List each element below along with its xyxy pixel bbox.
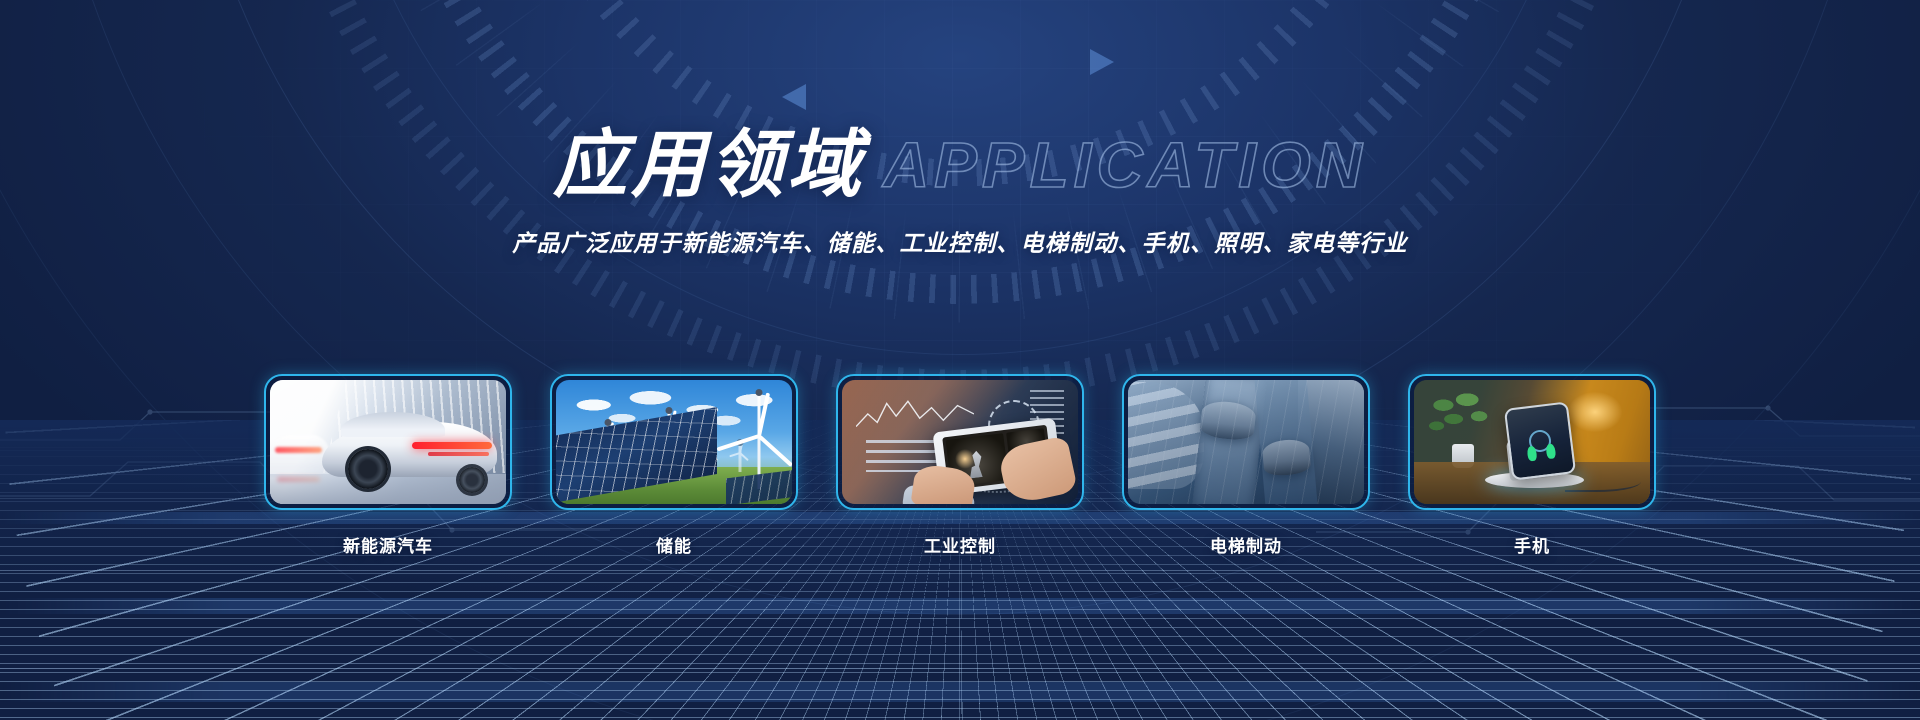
solar-wind-energy-photo	[556, 380, 792, 504]
card-frame[interactable]	[1408, 374, 1656, 510]
application-card-industrial-control[interactable]: 工业控制	[836, 374, 1084, 557]
electric-vehicle-photo	[270, 380, 506, 504]
page-title-english: APPLICATION	[883, 133, 1367, 197]
card-frame[interactable]	[1122, 374, 1370, 510]
card-label: 储能	[656, 532, 692, 557]
application-card-mobile-phone[interactable]: 手机	[1408, 374, 1656, 557]
application-card-elevator-brake[interactable]: 电梯制动	[1122, 374, 1370, 557]
card-frame[interactable]	[836, 374, 1084, 510]
card-frame[interactable]	[550, 374, 798, 510]
banner-heading: 应用领域 APPLICATION	[0, 128, 1920, 202]
card-frame[interactable]	[264, 374, 512, 510]
card-label: 手机	[1514, 532, 1550, 557]
application-card-energy-storage[interactable]: 储能	[550, 374, 798, 557]
card-label: 电梯制动	[1210, 532, 1282, 557]
card-label: 新能源汽车	[343, 532, 433, 557]
elevator-photo	[1128, 380, 1364, 504]
page-title: 应用领域	[553, 128, 865, 202]
industrial-control-tablet-photo	[842, 380, 1078, 504]
application-card-ev[interactable]: 新能源汽车	[264, 374, 512, 557]
smartphone-charger-photo	[1414, 380, 1650, 504]
card-label: 工业控制	[924, 532, 996, 557]
application-banner: 应用领域 APPLICATION 产品广泛应用于新能源汽车、储能、工业控制、电梯…	[0, 0, 1920, 720]
banner-subtitle: 产品广泛应用于新能源汽车、储能、工业控制、电梯制动、手机、照明、家电等行业	[0, 224, 1920, 258]
application-card-list: 新能源汽车 储能	[0, 374, 1920, 557]
